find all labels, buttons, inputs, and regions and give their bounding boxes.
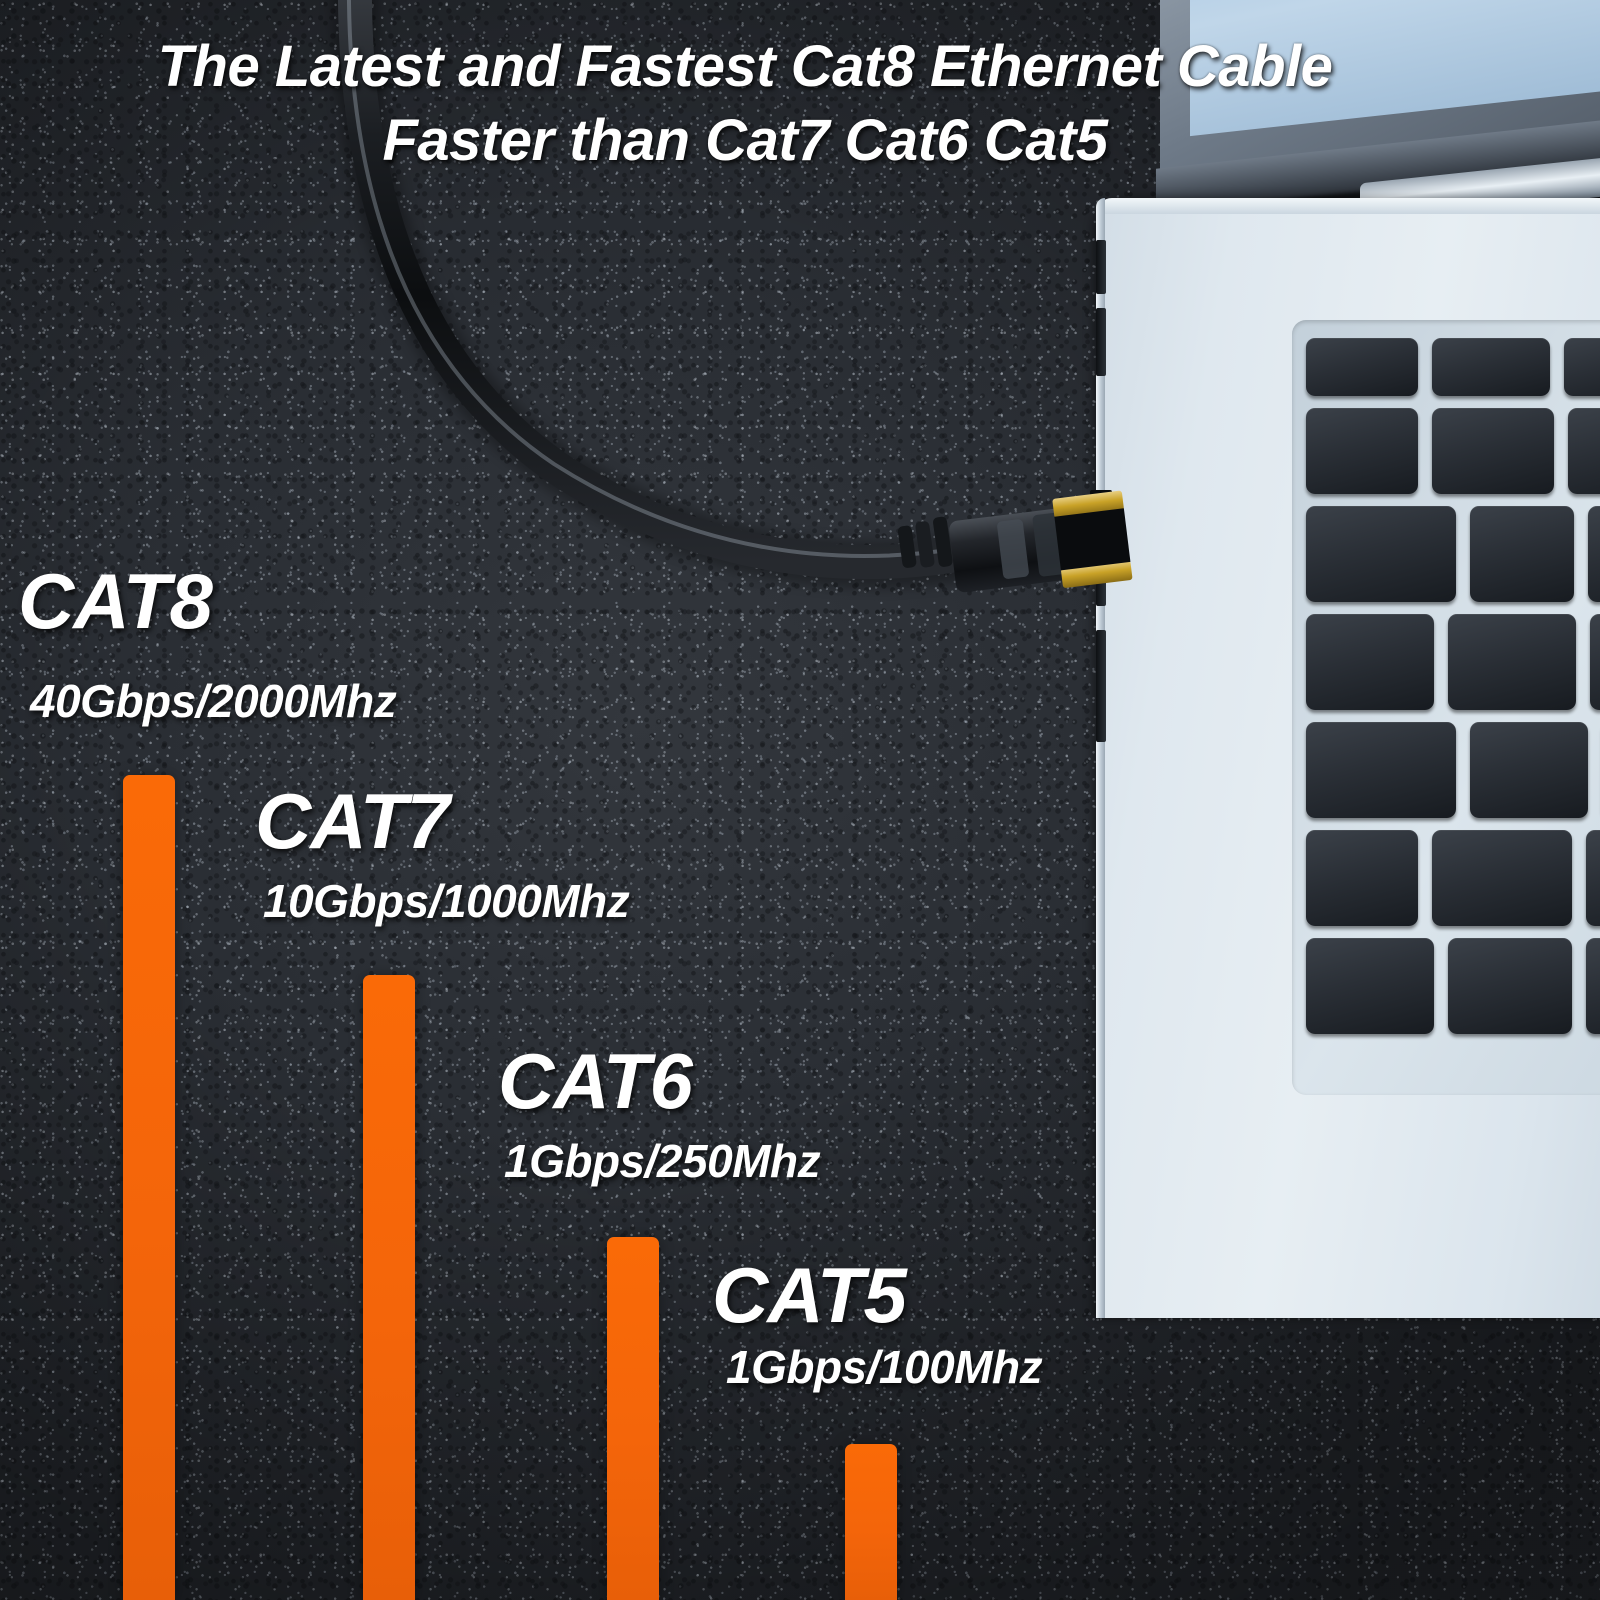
page-title: The Latest and Fastest Cat8 Ethernet Cab… [0, 30, 1490, 178]
product-infographic: The Latest and Fastest Cat8 Ethernet Cab… [0, 0, 1600, 1600]
bar-label-cat7: CAT7 [255, 782, 449, 860]
rj45-plug-tip [1054, 508, 1130, 570]
rj45-connector [947, 490, 1133, 601]
bar-value-cat5: 1Gbps/100Mhz [726, 1344, 1042, 1390]
bar-cat6 [607, 1237, 659, 1600]
cable-strain-relief [897, 516, 953, 572]
bar-cat8 [123, 775, 175, 1600]
bar-value-cat7: 10Gbps/1000Mhz [263, 878, 629, 924]
bar-value-cat8: 40Gbps/2000Mhz [30, 678, 396, 724]
bar-label-cat6: CAT6 [498, 1042, 692, 1120]
bar-label-cat5: CAT5 [712, 1256, 906, 1334]
bar-cat7 [363, 975, 415, 1600]
bar-label-cat8: CAT8 [18, 562, 212, 640]
bar-value-cat6: 1Gbps/250Mhz [504, 1138, 820, 1184]
bar-cat5 [845, 1444, 897, 1600]
